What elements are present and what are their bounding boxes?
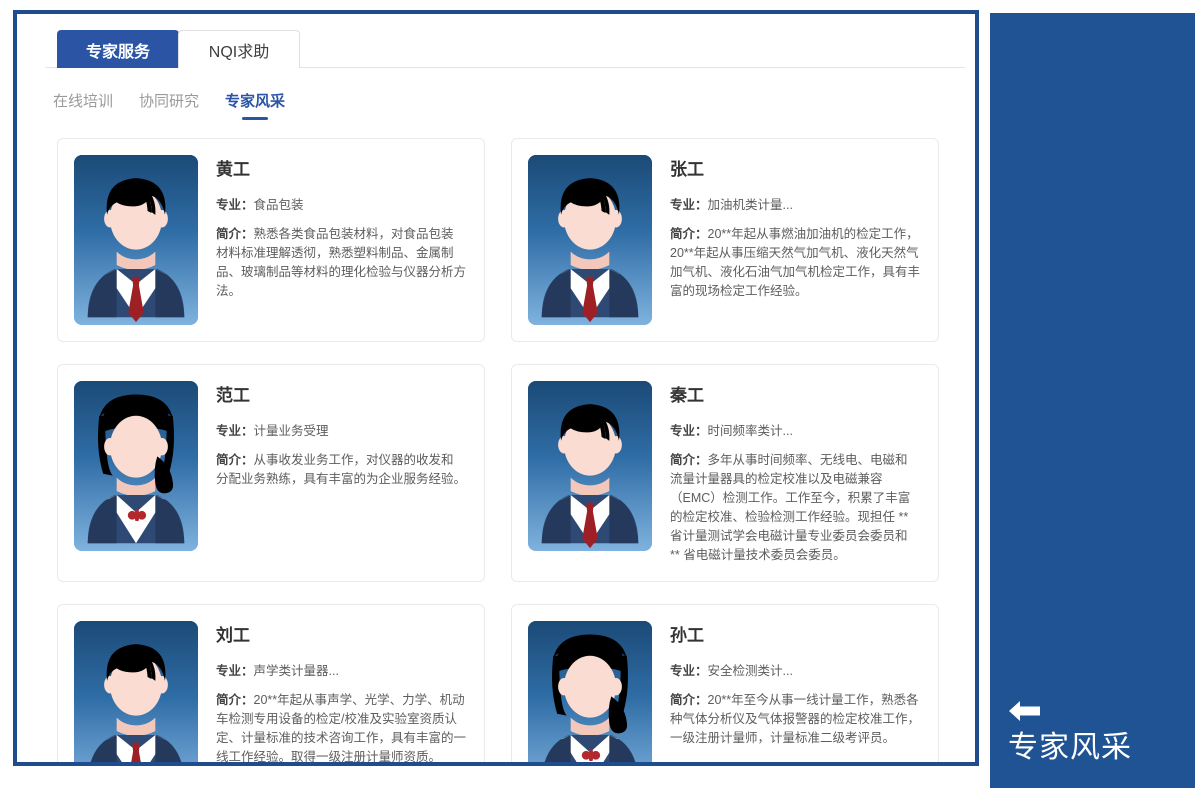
expert-bio-label: 简介： xyxy=(670,453,708,467)
subnav-item-expert-showcase-label: 专家风采 xyxy=(225,93,285,110)
subnav-item-collaborative-research[interactable]: 协同研究 xyxy=(139,90,199,120)
expert-major-value: 安全检测类计... xyxy=(708,664,793,678)
expert-major-label: 专业： xyxy=(216,424,254,438)
expert-major-row: 专业：食品包装 xyxy=(216,195,466,215)
expert-avatar xyxy=(74,155,198,325)
expert-name: 孙工 xyxy=(670,625,920,647)
expert-name: 秦工 xyxy=(670,385,920,407)
expert-bio-label: 简介： xyxy=(216,227,254,241)
subnav: 在线培训 协同研究 专家风采 xyxy=(17,68,975,120)
tab-expert-service-label: 专家服务 xyxy=(86,38,150,62)
subnav-item-collaborative-research-label: 协同研究 xyxy=(139,93,199,110)
side-panel-title: 专家风采 xyxy=(1008,730,1178,766)
top-tabbar: 专家服务 NQI求助 xyxy=(17,22,975,68)
tab-nqi-help[interactable]: NQI求助 xyxy=(178,30,300,68)
subnav-item-expert-showcase[interactable]: 专家风采 xyxy=(225,90,285,120)
expert-bio-label: 简介： xyxy=(670,693,708,707)
expert-name: 刘工 xyxy=(216,625,466,647)
expert-avatar xyxy=(528,621,652,762)
expert-bio-row: 简介：熟悉各类食品包装材料，对食品包装材料标准理解透彻，熟悉塑料制品、金属制品、… xyxy=(216,225,466,301)
expert-major-value: 食品包装 xyxy=(254,198,304,212)
expert-info: 孙工 专业：安全检测类计... 简介：20**年至今从事一线计量工作，熟悉各种气… xyxy=(670,621,920,762)
expert-bio-value: 熟悉各类食品包装材料，对食品包装材料标准理解透彻，熟悉塑料制品、金属制品、玻璃制… xyxy=(216,227,466,298)
expert-info: 张工 专业：加油机类计量... 简介：20**年起从事燃油加油机的检定工作，20… xyxy=(670,155,920,325)
expert-card[interactable]: 孙工 专业：安全检测类计... 简介：20**年至今从事一线计量工作，熟悉各种气… xyxy=(511,604,939,762)
expert-major-label: 专业： xyxy=(216,198,254,212)
content-frame: 专家服务 NQI求助 在线培训 协同研究 专家风采 xyxy=(13,10,979,766)
expert-bio-label: 简介： xyxy=(670,227,708,241)
expert-name: 范工 xyxy=(216,385,466,407)
expert-bio-label: 简介： xyxy=(216,693,254,707)
expert-bio-row: 简介：20**年至今从事一线计量工作，熟悉各种气体分析仪及气体报警器的检定校准工… xyxy=(670,691,920,748)
expert-major-row: 专业：加油机类计量... xyxy=(670,195,920,215)
page-root: 专家服务 NQI求助 在线培训 协同研究 专家风采 xyxy=(0,0,1195,788)
expert-avatar xyxy=(528,381,652,551)
expert-major-row: 专业：时间频率类计... xyxy=(670,421,920,441)
expert-major-label: 专业： xyxy=(670,198,708,212)
expert-card[interactable]: 范工 专业：计量业务受理 简介：从事收发业务工作，对仪器的收发和分配业务熟练，具… xyxy=(57,364,485,582)
expert-card[interactable]: 秦工 专业：时间频率类计... 简介：多年从事时间频率、无线电、电磁和流量计量器… xyxy=(511,364,939,582)
side-panel-content: 专家风采 xyxy=(1008,698,1178,766)
expert-bio-row: 简介：20**年起从事声学、光学、力学、机动车检测专用设备的检定/校准及实验室资… xyxy=(216,691,466,762)
expert-info: 范工 专业：计量业务受理 简介：从事收发业务工作，对仪器的收发和分配业务熟练，具… xyxy=(216,381,466,565)
expert-card-grid: 黄工 专业：食品包装 简介：熟悉各类食品包装材料，对食品包装材料标准理解透彻，熟… xyxy=(17,120,975,762)
expert-card[interactable]: 刘工 专业：声学类计量器... 简介：20**年起从事声学、光学、力学、机动车检… xyxy=(57,604,485,762)
expert-bio-row: 简介：20**年起从事燃油加油机的检定工作，20**年起从事压缩天然气加气机、液… xyxy=(670,225,920,301)
expert-major-row: 专业：计量业务受理 xyxy=(216,421,466,441)
expert-major-value: 加油机类计量... xyxy=(708,198,793,212)
expert-info: 黄工 专业：食品包装 简介：熟悉各类食品包装材料，对食品包装材料标准理解透彻，熟… xyxy=(216,155,466,325)
expert-major-row: 专业：声学类计量器... xyxy=(216,661,466,681)
expert-major-row: 专业：安全检测类计... xyxy=(670,661,920,681)
content-frame-inner: 专家服务 NQI求助 在线培训 协同研究 专家风采 xyxy=(17,14,975,762)
expert-bio-label: 简介： xyxy=(216,453,254,467)
expert-info: 刘工 专业：声学类计量器... 简介：20**年起从事声学、光学、力学、机动车检… xyxy=(216,621,466,762)
expert-bio-value: 从事收发业务工作，对仪器的收发和分配业务熟练，具有丰富的为企业服务经验。 xyxy=(216,453,466,486)
tab-nqi-help-label: NQI求助 xyxy=(209,38,269,62)
expert-info: 秦工 专业：时间频率类计... 简介：多年从事时间频率、无线电、电磁和流量计量器… xyxy=(670,381,920,565)
expert-avatar xyxy=(528,155,652,325)
expert-bio-value: 20**年起从事燃油加油机的检定工作，20**年起从事压缩天然气加气机、液化天然… xyxy=(670,227,920,298)
expert-bio-row: 简介：从事收发业务工作，对仪器的收发和分配业务熟练，具有丰富的为企业服务经验。 xyxy=(216,451,466,489)
expert-name: 张工 xyxy=(670,159,920,181)
subnav-item-online-training-label: 在线培训 xyxy=(53,93,113,110)
expert-card[interactable]: 黄工 专业：食品包装 简介：熟悉各类食品包装材料，对食品包装材料标准理解透彻，熟… xyxy=(57,138,485,342)
expert-major-value: 声学类计量器... xyxy=(254,664,339,678)
expert-major-value: 时间频率类计... xyxy=(708,424,793,438)
expert-major-value: 计量业务受理 xyxy=(254,424,329,438)
arrow-left-icon[interactable] xyxy=(1008,698,1042,724)
expert-card[interactable]: 张工 专业：加油机类计量... 简介：20**年起从事燃油加油机的检定工作，20… xyxy=(511,138,939,342)
expert-name: 黄工 xyxy=(216,159,466,181)
expert-bio-value: 20**年起从事声学、光学、力学、机动车检测专用设备的检定/校准及实验室资质认定… xyxy=(216,693,466,762)
tab-expert-service[interactable]: 专家服务 xyxy=(57,30,179,68)
expert-avatar xyxy=(74,381,198,551)
expert-bio-value: 多年从事时间频率、无线电、电磁和流量计量器具的检定校准以及电磁兼容（EMC）检测… xyxy=(670,453,910,562)
expert-major-label: 专业： xyxy=(216,664,254,678)
expert-avatar xyxy=(74,621,198,762)
expert-major-label: 专业： xyxy=(670,424,708,438)
tab-list: 专家服务 NQI求助 xyxy=(57,30,300,68)
expert-bio-value: 20**年至今从事一线计量工作，熟悉各种气体分析仪及气体报警器的检定校准工作，一… xyxy=(670,693,920,745)
subnav-item-online-training[interactable]: 在线培训 xyxy=(53,90,113,120)
expert-major-label: 专业： xyxy=(670,664,708,678)
side-panel: 专家风采 xyxy=(990,13,1195,788)
expert-bio-row: 简介：多年从事时间频率、无线电、电磁和流量计量器具的检定校准以及电磁兼容（EMC… xyxy=(670,451,920,565)
